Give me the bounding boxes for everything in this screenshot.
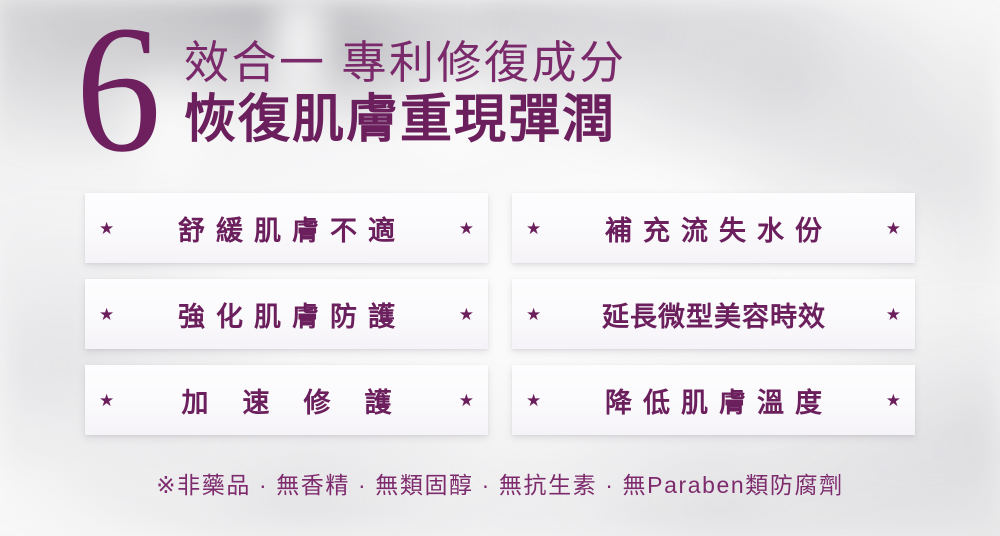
benefit-card: ★降低肌膚溫度★ bbox=[512, 365, 915, 435]
benefit-label: 強化肌膚防護 bbox=[114, 295, 459, 334]
star-icon-right: ★ bbox=[886, 220, 901, 237]
headline-line-2: 恢復肌膚重現彈潤 bbox=[184, 91, 627, 149]
benefit-card: ★補充流失水份★ bbox=[512, 193, 915, 263]
headline-block: 6 效合一 專利修復成分 恢復肌膚重現彈潤 bbox=[62, 16, 627, 170]
star-icon-left: ★ bbox=[99, 392, 114, 409]
star-icon-right: ★ bbox=[459, 392, 474, 409]
headline-number-six: 6 bbox=[62, 10, 171, 170]
star-icon-left: ★ bbox=[526, 220, 541, 237]
disclaimer-text: ※非藥品 · 無香精 · 無類固醇 · 無抗生素 · 無Paraben類防腐劑 bbox=[0, 466, 1000, 500]
star-icon-right: ★ bbox=[886, 392, 901, 409]
benefit-label: 舒緩肌膚不適 bbox=[114, 209, 459, 248]
star-icon-left: ★ bbox=[526, 392, 541, 409]
headline-line-1: 效合一 專利修復成分 bbox=[184, 38, 627, 88]
star-icon-left: ★ bbox=[99, 306, 114, 323]
star-icon-left: ★ bbox=[99, 220, 114, 237]
benefit-card: ★舒緩肌膚不適★ bbox=[85, 193, 488, 263]
headline-text-lines: 效合一 專利修復成分 恢復肌膚重現彈潤 bbox=[184, 38, 627, 150]
benefit-label: 降低肌膚溫度 bbox=[541, 381, 886, 420]
benefit-card: ★延長微型美容時效★ bbox=[512, 279, 915, 349]
star-icon-right: ★ bbox=[459, 220, 474, 237]
promo-poster: 6 效合一 專利修復成分 恢復肌膚重現彈潤 ★舒緩肌膚不適★★補充流失水份★★強… bbox=[0, 0, 1000, 536]
star-icon-left: ★ bbox=[526, 306, 541, 323]
poster-content: 6 效合一 專利修復成分 恢復肌膚重現彈潤 ★舒緩肌膚不適★★補充流失水份★★強… bbox=[0, 0, 1000, 536]
star-icon-right: ★ bbox=[459, 306, 474, 323]
benefit-card: ★加速修護★ bbox=[85, 365, 488, 435]
benefit-label: 補充流失水份 bbox=[541, 209, 886, 248]
benefit-label: 加速修護 bbox=[114, 381, 459, 420]
benefit-card: ★強化肌膚防護★ bbox=[85, 279, 488, 349]
benefit-label: 延長微型美容時效 bbox=[541, 295, 886, 334]
star-icon-right: ★ bbox=[886, 306, 901, 323]
benefit-grid: ★舒緩肌膚不適★★補充流失水份★★強化肌膚防護★★延長微型美容時效★★加速修護★… bbox=[85, 193, 915, 435]
